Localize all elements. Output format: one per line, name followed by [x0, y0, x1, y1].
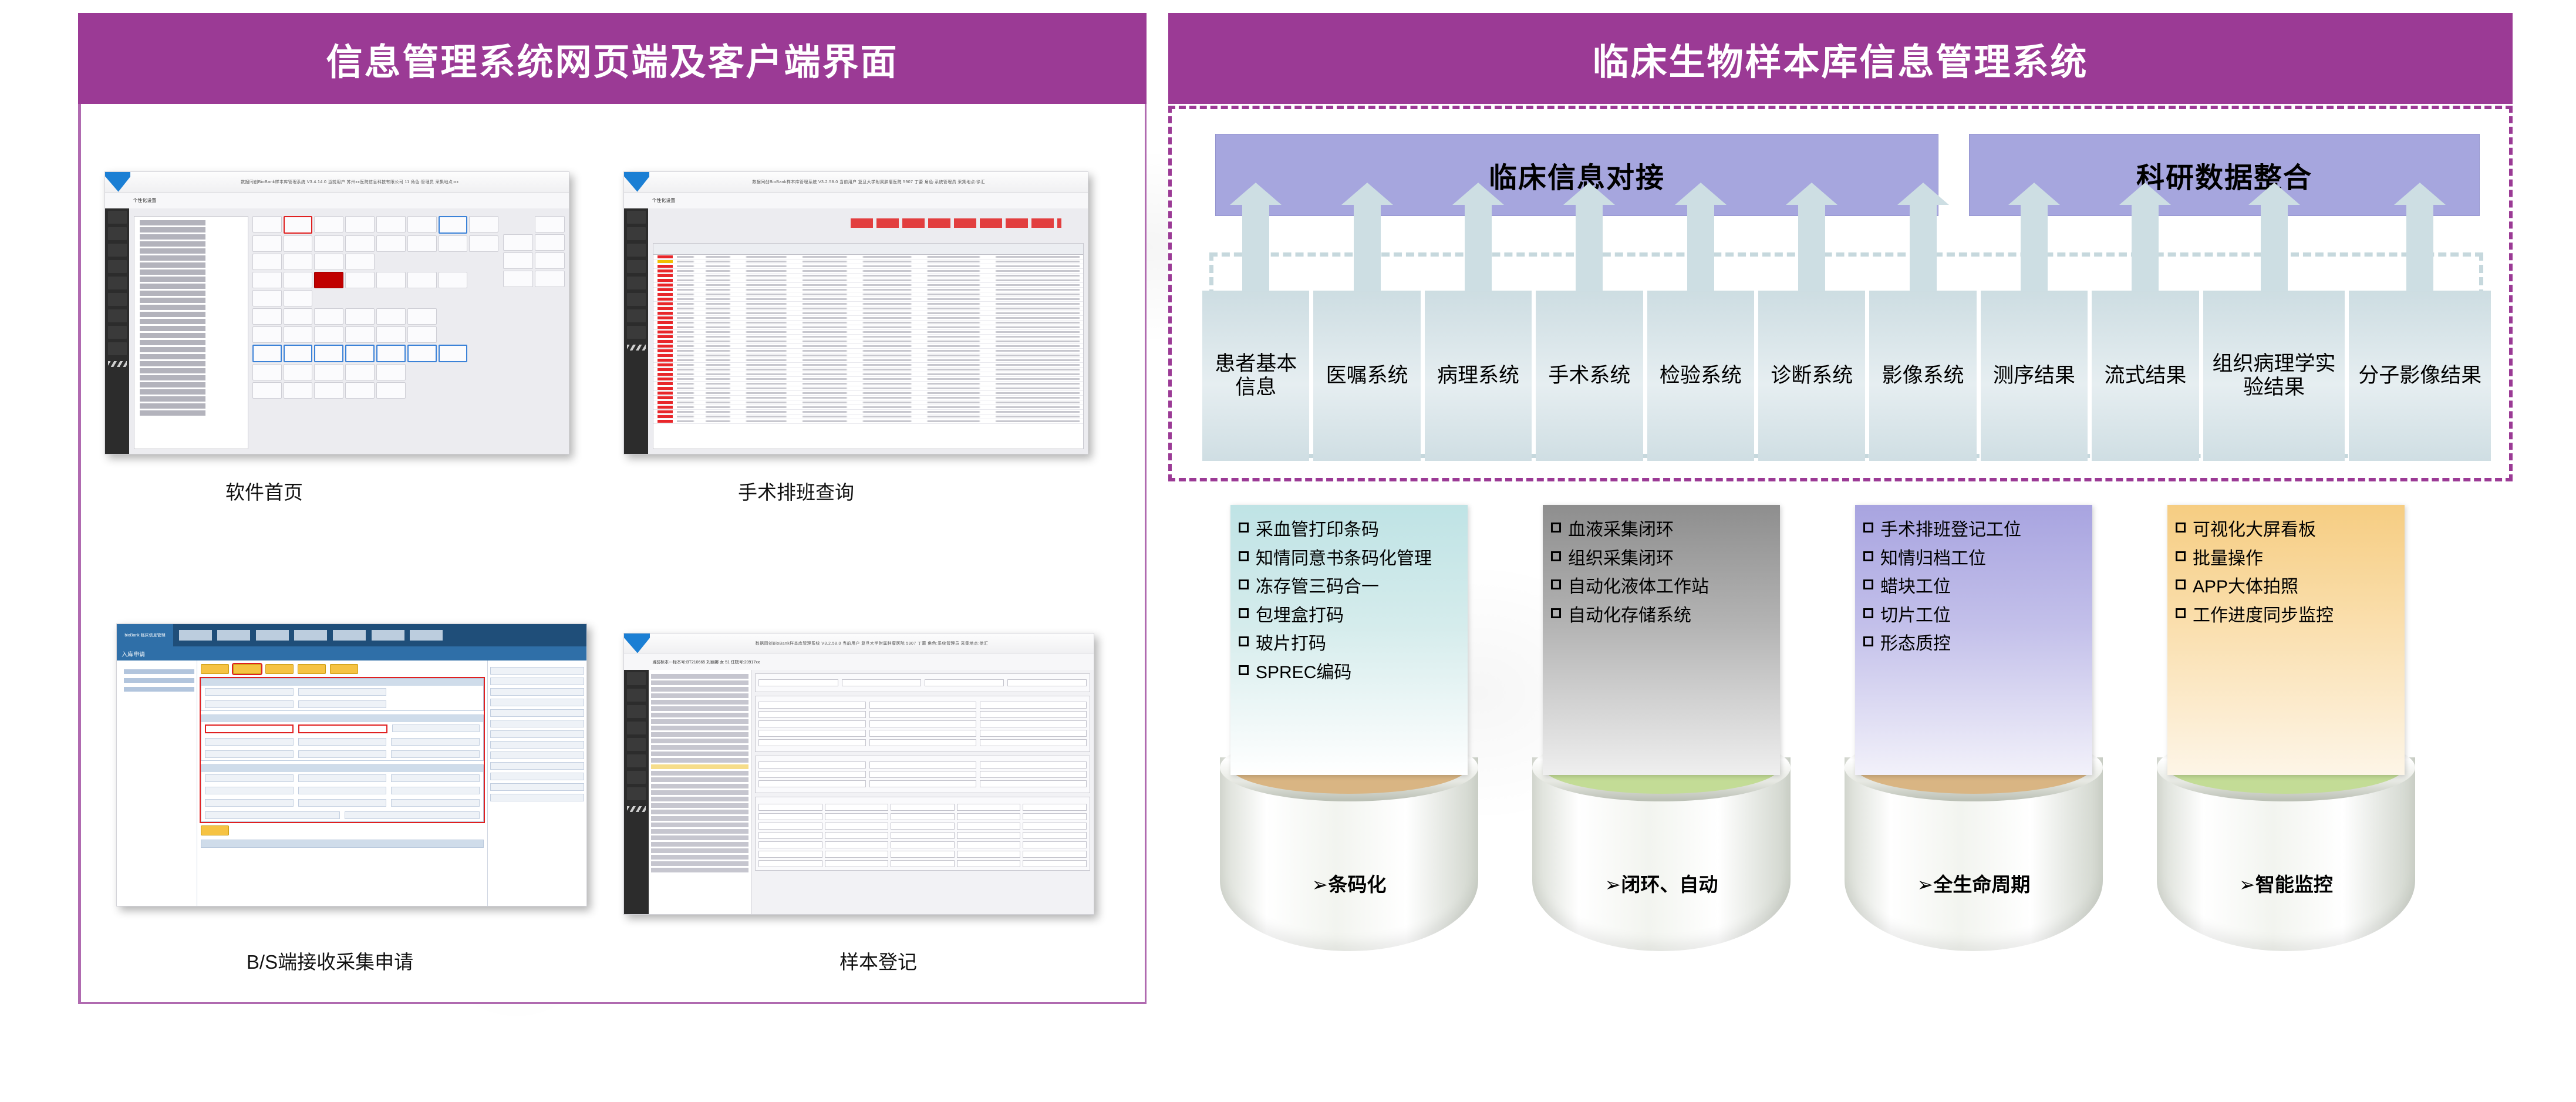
- sidenav-item[interactable]: [627, 227, 646, 240]
- specimen-row[interactable]: [651, 674, 749, 679]
- function-tile[interactable]: [376, 382, 406, 399]
- sidenav-item[interactable]: [108, 277, 127, 289]
- field[interactable]: [205, 750, 294, 758]
- table-row[interactable]: [653, 344, 1083, 349]
- function-tile[interactable]: [345, 364, 375, 380]
- function-tile[interactable]: [439, 216, 468, 234]
- custom-field[interactable]: [957, 823, 1021, 830]
- specimen-detail-form[interactable]: [751, 670, 1094, 914]
- table-row[interactable]: [653, 419, 1083, 424]
- function-tile[interactable]: [314, 382, 343, 399]
- source-box-sequencing[interactable]: 测序结果: [1981, 291, 2088, 461]
- source-box-diagnosis[interactable]: 诊断系统: [1758, 291, 1865, 461]
- function-tile[interactable]: [345, 326, 375, 343]
- field[interactable]: [869, 711, 976, 718]
- custom-field[interactable]: [957, 804, 1021, 811]
- custom-field[interactable]: [825, 832, 889, 839]
- module-tile[interactable]: [535, 234, 565, 251]
- table-row[interactable]: [653, 330, 1083, 335]
- save-button[interactable]: [233, 664, 261, 674]
- menu-item[interactable]: [410, 630, 443, 641]
- field[interactable]: [391, 738, 480, 746]
- field[interactable]: [758, 679, 838, 686]
- menu-item[interactable]: [256, 630, 289, 641]
- table-row[interactable]: [653, 306, 1083, 311]
- function-tile[interactable]: [376, 272, 406, 288]
- specimen-row-selected[interactable]: [651, 764, 749, 769]
- function-tile[interactable]: [376, 216, 406, 232]
- custom-field[interactable]: [957, 832, 1021, 839]
- step-item[interactable]: [124, 678, 194, 683]
- save-and-new-button[interactable]: [265, 664, 294, 674]
- field[interactable]: [391, 774, 480, 782]
- field[interactable]: [980, 771, 1087, 778]
- save-f2-button[interactable]: [869, 780, 976, 787]
- custom-field[interactable]: [891, 804, 955, 811]
- specimen-row[interactable]: [651, 855, 749, 860]
- table-row[interactable]: [653, 316, 1083, 321]
- field[interactable]: [391, 787, 480, 794]
- table-row[interactable]: [653, 377, 1083, 382]
- custom-field[interactable]: [490, 720, 584, 727]
- function-tile[interactable]: [252, 382, 282, 399]
- field[interactable]: [869, 739, 976, 746]
- print-barcode-button[interactable]: [330, 664, 358, 674]
- custom-field-grid[interactable]: [758, 804, 1087, 867]
- table-row[interactable]: [653, 368, 1083, 372]
- sidenav-item[interactable]: [627, 260, 646, 273]
- sidenav-item[interactable]: [108, 227, 127, 240]
- field[interactable]: [980, 730, 1087, 737]
- specimen-row[interactable]: [651, 680, 749, 685]
- custom-field[interactable]: [1023, 813, 1087, 820]
- mini-sidenav[interactable]: [624, 208, 648, 454]
- field[interactable]: [205, 799, 294, 807]
- function-tile[interactable]: [376, 364, 406, 380]
- form-toolbar[interactable]: [201, 664, 484, 674]
- custom-field[interactable]: [758, 832, 822, 839]
- sidenav-item[interactable]: [627, 244, 646, 257]
- function-tile-grid[interactable]: [252, 216, 498, 449]
- specimen-row[interactable]: [651, 771, 749, 776]
- field[interactable]: [980, 702, 1087, 709]
- custom-field[interactable]: [490, 730, 584, 738]
- field[interactable]: [345, 811, 480, 819]
- field[interactable]: [980, 711, 1087, 718]
- sidenav-item[interactable]: [627, 326, 646, 339]
- function-tile[interactable]: [407, 345, 437, 362]
- table-row[interactable]: [653, 391, 1083, 396]
- request-step-list[interactable]: [117, 660, 197, 906]
- field[interactable]: [391, 799, 480, 807]
- table-row[interactable]: [653, 396, 1083, 400]
- menu-tree[interactable]: [134, 216, 248, 449]
- function-tile[interactable]: [345, 235, 375, 252]
- field[interactable]: [205, 774, 294, 782]
- custom-field[interactable]: [490, 699, 584, 706]
- table-row[interactable]: [653, 278, 1083, 283]
- sidenav-item[interactable]: [108, 309, 127, 322]
- table-row[interactable]: [653, 297, 1083, 302]
- sidenav-item[interactable]: [627, 672, 646, 685]
- field[interactable]: [205, 787, 294, 794]
- specimen-row[interactable]: [651, 706, 749, 711]
- field-outpatient-no[interactable]: [298, 724, 387, 733]
- screenshot-software-home[interactable]: 数据同创BioBank样本库管理系统 V3.4.14.0 当前用户 苏州xx医院…: [104, 171, 569, 454]
- specimen-row[interactable]: [651, 868, 749, 872]
- function-tile[interactable]: [252, 326, 282, 343]
- custom-field[interactable]: [490, 741, 584, 749]
- function-tile[interactable]: [314, 216, 343, 232]
- module-tile[interactable]: [503, 234, 533, 251]
- field[interactable]: [980, 739, 1087, 746]
- function-tile[interactable]: [376, 326, 406, 343]
- result-table[interactable]: [201, 840, 484, 848]
- specimen-row[interactable]: [651, 745, 749, 750]
- table-row[interactable]: [653, 358, 1083, 363]
- custom-field[interactable]: [758, 813, 822, 820]
- sidenav-item[interactable]: [627, 293, 646, 306]
- function-tile[interactable]: [469, 235, 498, 252]
- custom-field[interactable]: [891, 860, 955, 867]
- table-row[interactable]: [653, 386, 1083, 391]
- custom-field[interactable]: [1023, 832, 1087, 839]
- specimen-row[interactable]: [651, 784, 749, 788]
- function-tile[interactable]: [407, 216, 437, 232]
- specimen-row[interactable]: [651, 835, 749, 840]
- function-tile[interactable]: [314, 235, 343, 252]
- dashboard-module-column[interactable]: [503, 216, 565, 449]
- source-box-surgery[interactable]: 手术系统: [1536, 291, 1643, 461]
- table-row[interactable]: [653, 283, 1083, 288]
- function-tile[interactable]: [252, 235, 282, 252]
- sidenav-item[interactable]: [627, 689, 646, 702]
- table-row[interactable]: [653, 274, 1083, 278]
- function-tile[interactable]: [284, 326, 313, 343]
- source-box-pathology[interactable]: 病理系统: [1425, 291, 1532, 461]
- specimen-row[interactable]: [651, 816, 749, 821]
- custom-field[interactable]: [891, 823, 955, 830]
- field[interactable]: [298, 700, 387, 708]
- sidenav-item[interactable]: [108, 326, 127, 339]
- sidenav-item[interactable]: [627, 771, 646, 784]
- specimen-row[interactable]: [651, 693, 749, 698]
- function-tile[interactable]: [345, 216, 375, 232]
- custom-field[interactable]: [825, 860, 889, 867]
- custom-field[interactable]: [490, 762, 584, 770]
- function-tile[interactable]: [252, 290, 282, 306]
- module-tile[interactable]: [535, 271, 565, 287]
- function-tile[interactable]: [345, 308, 375, 325]
- custom-field[interactable]: [825, 813, 889, 820]
- specimen-row[interactable]: [651, 751, 749, 756]
- function-tile[interactable]: [439, 272, 468, 288]
- source-box-histopathology[interactable]: 组织病理学实验结果: [2203, 291, 2345, 461]
- table-row[interactable]: [653, 260, 1083, 264]
- sidenav-item[interactable]: [627, 277, 646, 289]
- table-row[interactable]: [653, 405, 1083, 410]
- source-box-molecular-imaging[interactable]: 分子影像结果: [2349, 291, 2491, 461]
- custom-field[interactable]: [957, 860, 1021, 867]
- custom-field[interactable]: [490, 709, 584, 717]
- custom-fields-panel[interactable]: [487, 660, 586, 906]
- field[interactable]: [758, 730, 865, 737]
- table-row[interactable]: [653, 382, 1083, 386]
- function-tile[interactable]: [314, 364, 343, 380]
- module-tile[interactable]: [503, 252, 533, 269]
- specimen-row[interactable]: [651, 713, 749, 717]
- function-tile[interactable]: [252, 272, 282, 288]
- function-tile[interactable]: [439, 345, 468, 362]
- sidenav-item[interactable]: [108, 244, 127, 257]
- field[interactable]: [298, 787, 387, 794]
- function-tile[interactable]: [252, 308, 282, 325]
- custom-field[interactable]: [758, 804, 822, 811]
- field[interactable]: [925, 679, 1004, 686]
- table-row[interactable]: [653, 269, 1083, 274]
- screenshot-bs-collection-request[interactable]: bioBank 临床信息管理 入库申请: [116, 624, 587, 906]
- table-row[interactable]: [653, 410, 1083, 414]
- custom-field[interactable]: [891, 813, 955, 820]
- module-tile[interactable]: [503, 271, 533, 287]
- custom-field[interactable]: [957, 813, 1021, 820]
- specimen-row[interactable]: [651, 848, 749, 853]
- function-tile[interactable]: [345, 382, 375, 399]
- field[interactable]: [758, 720, 865, 727]
- table-row[interactable]: [653, 264, 1083, 269]
- screenshot-surgery-schedule[interactable]: 数据同创BioBank样本库管理系统 V3.2.58.0 当前用户 复旦大学附属…: [623, 171, 1088, 454]
- function-tile[interactable]: [345, 254, 375, 270]
- new-button[interactable]: [201, 664, 229, 674]
- field[interactable]: [869, 702, 976, 709]
- sidenav-item[interactable]: [627, 722, 646, 734]
- custom-field[interactable]: [957, 841, 1021, 848]
- field[interactable]: [1007, 679, 1087, 686]
- custom-field[interactable]: [1023, 851, 1087, 858]
- query-today-registration-row[interactable]: [201, 825, 484, 835]
- custom-field[interactable]: [758, 851, 822, 858]
- function-tile[interactable]: [284, 235, 313, 252]
- function-tile[interactable]: [252, 216, 282, 232]
- function-tile[interactable]: [284, 272, 313, 288]
- field[interactable]: [758, 739, 865, 746]
- mini-sidenav[interactable]: [105, 208, 129, 454]
- function-tile[interactable]: [407, 308, 437, 325]
- step-item[interactable]: [124, 669, 194, 674]
- field[interactable]: [869, 720, 976, 727]
- field[interactable]: [391, 750, 480, 758]
- custom-field[interactable]: [490, 688, 584, 696]
- table-row[interactable]: [653, 353, 1083, 358]
- field[interactable]: [758, 702, 865, 709]
- specimen-row[interactable]: [651, 777, 749, 782]
- field[interactable]: [298, 774, 387, 782]
- field-inpatient-no[interactable]: [205, 724, 294, 733]
- custom-field[interactable]: [490, 783, 584, 791]
- field[interactable]: [869, 761, 976, 769]
- function-tile-selected[interactable]: [284, 216, 313, 234]
- table-row[interactable]: [653, 335, 1083, 339]
- sidenav-item[interactable]: [627, 309, 646, 322]
- sidenav-item[interactable]: [627, 787, 646, 800]
- field[interactable]: [758, 761, 865, 769]
- specimen-row[interactable]: [651, 700, 749, 705]
- sidenav-item[interactable]: [627, 738, 646, 751]
- source-box-patient-basic[interactable]: 患者基本信息: [1202, 291, 1309, 461]
- specimen-row[interactable]: [651, 790, 749, 795]
- field[interactable]: [205, 688, 294, 696]
- menu-item[interactable]: [294, 630, 327, 641]
- custom-field[interactable]: [490, 773, 584, 780]
- table-row[interactable]: [653, 400, 1083, 405]
- function-tile[interactable]: [439, 235, 468, 252]
- field[interactable]: [758, 711, 865, 718]
- source-box-orders[interactable]: 医嘱系统: [1313, 291, 1420, 461]
- table-row[interactable]: [653, 363, 1083, 368]
- table-row[interactable]: [653, 288, 1083, 292]
- specimen-row[interactable]: [651, 687, 749, 692]
- sidenav-item[interactable]: [108, 342, 127, 355]
- custom-field[interactable]: [1023, 841, 1087, 848]
- function-tile[interactable]: [376, 308, 406, 325]
- field[interactable]: [980, 720, 1087, 727]
- table-row[interactable]: [653, 414, 1083, 419]
- sidenav-item[interactable]: [108, 293, 127, 306]
- request-form[interactable]: [197, 660, 487, 906]
- specimen-list[interactable]: [649, 670, 752, 914]
- table-row[interactable]: [653, 255, 1083, 260]
- custom-field[interactable]: [1023, 823, 1087, 830]
- module-tile[interactable]: [535, 252, 565, 269]
- custom-field[interactable]: [490, 794, 584, 801]
- function-tile[interactable]: [284, 382, 313, 399]
- mini-sidenav[interactable]: [624, 670, 649, 914]
- field[interactable]: [298, 688, 387, 696]
- delete-button[interactable]: [298, 664, 326, 674]
- custom-field[interactable]: [825, 823, 889, 830]
- menu-item[interactable]: [179, 630, 212, 641]
- sidenav-item[interactable]: [108, 260, 127, 273]
- sidenav-item[interactable]: [627, 211, 646, 224]
- custom-field[interactable]: [490, 751, 584, 759]
- step-item[interactable]: [124, 687, 194, 692]
- custom-field[interactable]: [891, 832, 955, 839]
- function-tile[interactable]: [407, 272, 437, 288]
- function-tile[interactable]: [376, 235, 406, 252]
- field[interactable]: [205, 700, 294, 708]
- custom-field[interactable]: [490, 678, 584, 685]
- specimen-row[interactable]: [651, 823, 749, 827]
- specimen-row[interactable]: [651, 803, 749, 808]
- specimen-row[interactable]: [651, 861, 749, 866]
- function-tile[interactable]: [407, 326, 437, 343]
- function-tile[interactable]: [376, 345, 406, 362]
- menu-item[interactable]: [372, 630, 404, 641]
- function-tile[interactable]: [284, 345, 313, 362]
- field[interactable]: [758, 780, 865, 787]
- field[interactable]: [298, 738, 387, 746]
- function-tile[interactable]: [252, 364, 282, 380]
- function-tile[interactable]: [284, 254, 313, 270]
- sidenav-item[interactable]: [627, 705, 646, 718]
- mini-tab[interactable]: 个性化设置: [624, 193, 1088, 210]
- sidenav-item[interactable]: [108, 211, 127, 224]
- query-today-registration-button[interactable]: [201, 825, 229, 835]
- screenshot-sample-registration[interactable]: 数据同创BioBank样本库管理系统 V3.2.58.0 当前用户 复旦大学附属…: [623, 633, 1094, 915]
- field[interactable]: [980, 780, 1087, 787]
- field[interactable]: [205, 738, 294, 746]
- table-row[interactable]: [653, 311, 1083, 316]
- custom-field[interactable]: [891, 841, 955, 848]
- custom-field[interactable]: [825, 804, 889, 811]
- specimen-row[interactable]: [651, 810, 749, 814]
- function-tile[interactable]: [314, 326, 343, 343]
- function-tile[interactable]: [314, 308, 343, 325]
- custom-field[interactable]: [891, 851, 955, 858]
- field[interactable]: [298, 750, 387, 758]
- source-box-flow-cytometry[interactable]: 流式结果: [2092, 291, 2199, 461]
- specimen-row[interactable]: [651, 797, 749, 801]
- field[interactable]: [842, 679, 921, 686]
- module-tile[interactable]: [535, 216, 565, 232]
- surgery-table[interactable]: [653, 243, 1084, 449]
- field[interactable]: [869, 771, 976, 778]
- sidenav-item[interactable]: [627, 754, 646, 767]
- source-box-imaging[interactable]: 影像系统: [1869, 291, 1976, 461]
- field[interactable]: [980, 761, 1087, 769]
- function-tile[interactable]: [284, 364, 313, 380]
- menu-item[interactable]: [217, 630, 250, 641]
- mini-tab[interactable]: 个性化设置: [105, 193, 569, 210]
- custom-field[interactable]: [758, 860, 822, 867]
- source-box-lab-test[interactable]: 检验系统: [1647, 291, 1754, 461]
- table-row[interactable]: [653, 325, 1083, 330]
- field[interactable]: [392, 724, 480, 732]
- table-row[interactable]: [653, 339, 1083, 344]
- function-tile[interactable]: [345, 272, 375, 288]
- field[interactable]: [758, 771, 865, 778]
- table-row[interactable]: [653, 349, 1083, 353]
- table-row[interactable]: [653, 372, 1083, 377]
- specimen-row[interactable]: [651, 732, 749, 737]
- field[interactable]: [205, 811, 340, 819]
- field[interactable]: [869, 730, 976, 737]
- custom-field[interactable]: [490, 667, 584, 675]
- web-navbar[interactable]: bioBank 临床信息管理: [117, 624, 586, 646]
- specimen-row[interactable]: [651, 726, 749, 730]
- specimen-row[interactable]: [651, 739, 749, 743]
- table-row[interactable]: [653, 302, 1083, 306]
- custom-field[interactable]: [825, 841, 889, 848]
- function-tile[interactable]: [252, 254, 282, 270]
- specimen-row[interactable]: [651, 758, 749, 763]
- menu-item[interactable]: [333, 630, 366, 641]
- custom-field[interactable]: [758, 823, 822, 830]
- custom-field[interactable]: [1023, 860, 1087, 867]
- function-tile[interactable]: [284, 308, 313, 325]
- custom-field[interactable]: [758, 841, 822, 848]
- specimen-row[interactable]: [651, 842, 749, 847]
- function-tile[interactable]: [345, 345, 375, 362]
- custom-field[interactable]: [825, 851, 889, 858]
- specimen-row[interactable]: [651, 829, 749, 834]
- custom-field[interactable]: [1023, 804, 1087, 811]
- function-tile[interactable]: [314, 254, 343, 270]
- function-tile[interactable]: [314, 345, 343, 362]
- function-tile-active[interactable]: [314, 272, 343, 288]
- function-tile[interactable]: [407, 235, 437, 252]
- table-row[interactable]: [653, 292, 1083, 297]
